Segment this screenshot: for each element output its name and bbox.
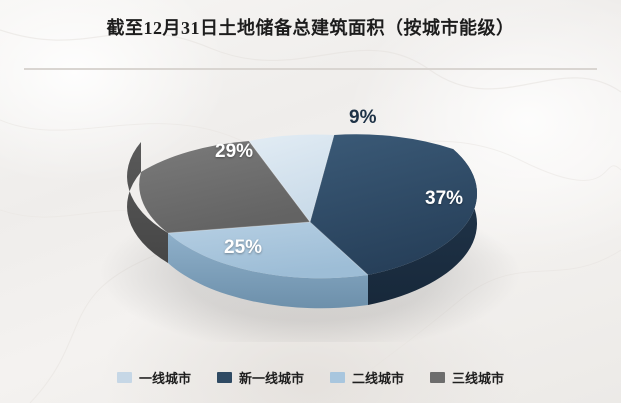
legend-swatch-icon [430, 372, 445, 383]
pie-chart: 9% 37% 25% 29% [0, 74, 621, 342]
pie-chart-svg [0, 74, 621, 342]
slice-label-third-tier: 29% [215, 141, 253, 163]
slice-label-first-tier: 9% [349, 107, 376, 129]
slice-label-new-first-tier: 37% [425, 188, 463, 210]
legend-label-first-tier: 一线城市 [139, 368, 191, 387]
legend-item-second-tier[interactable]: 二线城市 [330, 368, 404, 387]
chart-title-container: 截至12月31日土地储备总建筑面积（按城市能级） [0, 14, 621, 40]
legend-label-third-tier: 三线城市 [452, 368, 504, 387]
legend-item-third-tier[interactable]: 三线城市 [430, 368, 504, 387]
legend-swatch-icon [217, 372, 232, 383]
page-title: 截至12月31日土地储备总建筑面积（按城市能级） [0, 14, 621, 40]
slice-label-second-tier: 25% [224, 237, 262, 259]
legend-label-second-tier: 二线城市 [352, 368, 404, 387]
title-divider [24, 68, 597, 70]
legend-item-first-tier[interactable]: 一线城市 [117, 368, 191, 387]
legend-item-new-first-tier[interactable]: 新一线城市 [217, 368, 304, 387]
legend-swatch-icon [117, 372, 132, 383]
legend-swatch-icon [330, 372, 345, 383]
legend-label-new-first-tier: 新一线城市 [239, 368, 304, 387]
legend: 一线城市 新一线城市 二线城市 三线城市 [0, 368, 621, 387]
